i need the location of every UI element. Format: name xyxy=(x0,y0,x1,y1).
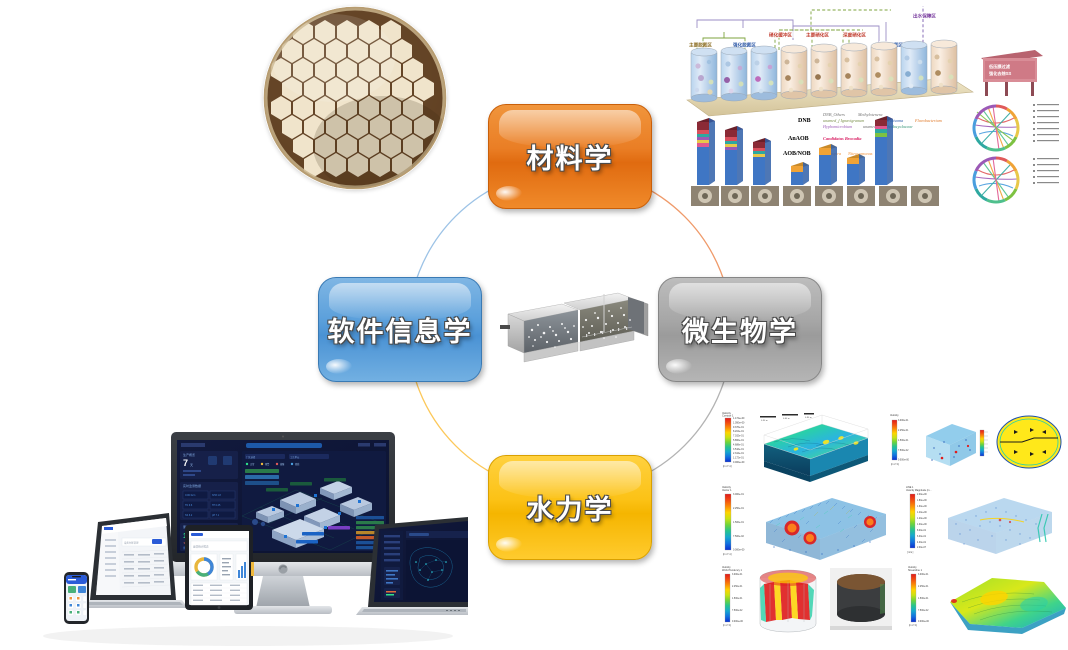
svg-text:生产概览: 生产概览 xyxy=(183,452,195,457)
svg-text:7: 7 xyxy=(183,458,188,468)
svg-text:4.688e-01: 4.688e-01 xyxy=(733,443,744,446)
svg-text:6.00e-01: 6.00e-01 xyxy=(917,536,927,538)
svg-text:7.500e-02: 7.500e-02 xyxy=(733,535,744,538)
svg-text:3.000e-01: 3.000e-01 xyxy=(732,574,743,576)
svg-text:AOB/NOB: AOB/NOB xyxy=(783,151,811,157)
svg-text:8.00e-01: 8.00e-01 xyxy=(917,530,927,532)
svg-text:0.90 m: 0.90 m xyxy=(805,417,812,419)
svg-text:7.032e-01: 7.032e-01 xyxy=(733,435,744,438)
svg-text:pH 7.1: pH 7.1 xyxy=(212,514,220,517)
svg-text:[m s^-1]: [m s^-1] xyxy=(723,553,732,556)
node-materials[interactable]: 材料学 xyxy=(488,104,652,209)
svg-text:Streamline 1: Streamline 1 xyxy=(908,569,923,572)
svg-text:运营统计报表: 运营统计报表 xyxy=(193,545,209,549)
svg-text:2.250e-01: 2.250e-01 xyxy=(898,430,909,432)
svg-text:3.516e-01: 3.516e-01 xyxy=(733,448,744,451)
svg-text:World Tendency 1: World Tendency 1 xyxy=(722,569,743,572)
corner-highlight xyxy=(496,186,522,201)
svg-text:Velocity Magnitude (m...: Velocity Magnitude (m... xyxy=(906,489,932,492)
svg-text:Hyphomicrobium: Hyphomicrobium xyxy=(822,124,852,129)
svg-text:8.204e-01: 8.204e-01 xyxy=(733,430,744,433)
svg-text:2.00e+00: 2.00e+00 xyxy=(917,494,927,496)
svg-text:1.00e+00: 1.00e+00 xyxy=(917,524,927,526)
cfd-velocity-simulation-grid: Velocity Contour 1 1.172e+001.050e+00 9.… xyxy=(704,402,1068,650)
svg-text:1.500e-01: 1.500e-01 xyxy=(918,598,929,600)
svg-text:[m s^-1]: [m s^-1] xyxy=(723,465,732,468)
svg-text:设备台账管理: 设备台账管理 xyxy=(124,541,139,545)
svg-text:1.40e+00: 1.40e+00 xyxy=(917,512,927,514)
svg-text:出水保障区: 出水保障区 xyxy=(913,13,936,20)
svg-text:2.344e-01: 2.344e-01 xyxy=(733,452,744,455)
svg-text:0.60 m: 0.60 m xyxy=(783,418,790,420)
svg-text:Flavobacterium: Flavobacterium xyxy=(914,118,942,123)
node-hydraulics-label: 水力学 xyxy=(527,488,614,527)
svg-text:1.172e+00: 1.172e+00 xyxy=(733,417,745,420)
svg-text:AnAOB: AnAOB xyxy=(788,136,809,142)
node-software-label: 软件信息学 xyxy=(328,310,473,349)
svg-text:5.860e-01: 5.860e-01 xyxy=(733,439,744,442)
svg-text:强化去除SS: 强化去除SS xyxy=(989,70,1012,77)
node-software[interactable]: 软件信息学 xyxy=(318,277,482,382)
svg-text:3.000e-01: 3.000e-01 xyxy=(733,493,744,496)
svg-text:1.20e+00: 1.20e+00 xyxy=(917,518,927,520)
svg-text:2.00e-07: 2.00e-07 xyxy=(917,547,927,549)
svg-text:7.500e-02: 7.500e-02 xyxy=(918,610,929,612)
svg-text:TN 9.6: TN 9.6 xyxy=(185,504,193,507)
svg-text:Velocity: Velocity xyxy=(890,414,899,417)
node-microbiology[interactable]: 微生物学 xyxy=(658,277,822,382)
svg-text:0.000e+00: 0.000e+00 xyxy=(732,621,744,623)
corner-highlight xyxy=(326,359,352,374)
svg-text:1.500e-01: 1.500e-01 xyxy=(733,521,744,524)
svg-text:3.000e-01: 3.000e-01 xyxy=(918,574,929,576)
corner-highlight xyxy=(666,359,692,374)
svg-text:[ m/s ]: [ m/s ] xyxy=(907,552,914,554)
node-microbiology-label: 微生物学 xyxy=(682,310,798,349)
svg-text:COD 42.1: COD 42.1 xyxy=(185,494,196,497)
svg-text:SS 6.2: SS 6.2 xyxy=(185,514,193,517)
svg-text:7.500e-02: 7.500e-02 xyxy=(732,610,743,612)
svg-text:低压膜过滤: 低压膜过滤 xyxy=(988,63,1011,70)
honeycomb-carrier-media-photo xyxy=(263,6,447,190)
svg-text:实时监测数据: 实时监测数据 xyxy=(183,483,201,488)
svg-text:0.000e+00: 0.000e+00 xyxy=(918,621,930,623)
svg-text:7.500e-02: 7.500e-02 xyxy=(898,450,909,452)
svg-text:1.500e-01: 1.500e-01 xyxy=(898,440,909,442)
infographic-canvas: 材料学 软件信息学 微生物学 水力学 xyxy=(0,0,1068,650)
svg-text:主要硝化区: 主要硝化区 xyxy=(806,32,829,39)
svg-text:0.000e+00: 0.000e+00 xyxy=(898,460,910,462)
node-materials-label: 材料学 xyxy=(527,137,614,176)
multi-device-dashboard-mockup: 生产概览 7 天 实时监测数据 COD 42.1NH3 1.8 TN 9.6TP… xyxy=(28,412,468,650)
svg-text:0.30 m: 0.30 m xyxy=(761,420,768,422)
svg-text:4.00e-01: 4.00e-01 xyxy=(917,542,927,544)
svg-text:硝化缓冲区: 硝化缓冲区 xyxy=(769,32,792,39)
svg-text:1.60e+00: 1.60e+00 xyxy=(917,506,927,508)
svg-text:Candidatus Brocadia: Candidatus Brocadia xyxy=(823,136,862,141)
svg-text:1.500e-01: 1.500e-01 xyxy=(732,598,743,600)
svg-text:TP 0.25: TP 0.25 xyxy=(212,504,221,507)
svg-text:天: 天 xyxy=(190,463,193,467)
svg-text:2.250e-01: 2.250e-01 xyxy=(733,507,744,510)
svg-text:DNB_Others: DNB_Others xyxy=(822,112,845,117)
svg-text:1.050e+00: 1.050e+00 xyxy=(733,421,745,424)
reactor-zone-microbial-community-figure: 主要脱氮区 强化脱氮区 硝化缓冲区 主要硝化区 深度硝化区 深度脱氮区 出水保障… xyxy=(683,0,1068,208)
svg-text:Methylotenera: Methylotenera xyxy=(857,112,882,117)
svg-text:3.000e-01: 3.000e-01 xyxy=(898,420,909,422)
svg-text:9.376e-01: 9.376e-01 xyxy=(733,426,744,429)
wastewater-tank-render xyxy=(500,280,650,375)
svg-text:1.172e-01: 1.172e-01 xyxy=(733,457,744,460)
svg-text:2.250e-01: 2.250e-01 xyxy=(732,586,743,588)
svg-text:[m s^-1]: [m s^-1] xyxy=(723,624,731,627)
svg-text:主要脱氮区: 主要脱氮区 xyxy=(689,42,712,49)
svg-text:unamed_f Ignavigranum: unamed_f Ignavigranum xyxy=(823,118,864,123)
svg-text:[m s^-1]: [m s^-1] xyxy=(891,463,899,466)
svg-text:Vector 1: Vector 1 xyxy=(722,488,732,492)
node-hydraulics[interactable]: 水力学 xyxy=(488,455,652,560)
svg-text:1.80e+00: 1.80e+00 xyxy=(917,500,927,502)
svg-text:0.000e+00: 0.000e+00 xyxy=(733,461,745,464)
svg-text:0.000e+00: 0.000e+00 xyxy=(733,549,745,552)
svg-text:深度硝化区: 深度硝化区 xyxy=(843,32,866,39)
svg-text:NH3 1.8: NH3 1.8 xyxy=(212,494,221,497)
svg-text:[m s^-1]: [m s^-1] xyxy=(909,624,917,627)
svg-text:2.250e-01: 2.250e-01 xyxy=(918,586,929,588)
corner-highlight xyxy=(496,537,522,552)
svg-text:DNB: DNB xyxy=(798,118,811,124)
